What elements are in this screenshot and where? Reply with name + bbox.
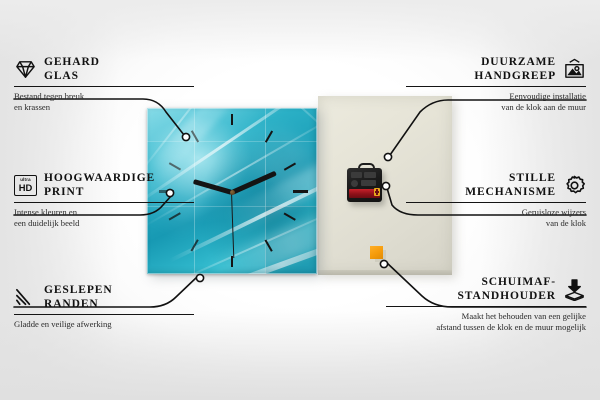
feature-geslepen-randen[interactable]: GESLEPEN RANDEN Gladde en veilige afwerk…: [14, 284, 194, 330]
diamond-icon: [14, 58, 37, 81]
feature-divider: [14, 86, 194, 87]
feature-title: HOOGWAARDIGE PRINT: [44, 172, 155, 199]
ultra-hd-icon-main-text: HD: [19, 183, 33, 193]
feature-divider: [406, 202, 586, 203]
feature-header: GEHARD GLAS: [14, 56, 194, 83]
feature-stille-mechanisme[interactable]: STILLE MECHANISME Geruisloze wijzers van…: [406, 172, 586, 229]
feature-divider: [14, 202, 194, 203]
feature-schuimafstandhouder[interactable]: SCHUIMAF- STANDHOUDER Maakt het behouden…: [386, 276, 586, 333]
connector-node-mechanisme: [382, 182, 389, 189]
connector-node-randen: [196, 274, 203, 281]
feature-header: GESLEPEN RANDEN: [14, 284, 194, 311]
feature-header: ultra HD HOOGWAARDIGE PRINT: [14, 172, 194, 199]
bevelled-edge-icon: [14, 286, 37, 309]
gear-icon: [563, 174, 586, 197]
feature-divider: [14, 314, 194, 315]
connector-node-handgreep: [384, 153, 391, 160]
feature-desc-line1: Intense kleuren en: [14, 207, 194, 218]
foam-spacer-icon: [563, 278, 586, 301]
feature-hoogwaardige-print[interactable]: ultra HD HOOGWAARDIGE PRINT Intense kleu…: [14, 172, 194, 229]
picture-hanger-icon: [563, 58, 586, 81]
feature-title: GESLEPEN RANDEN: [44, 284, 113, 311]
infographic-canvas: GEHARD GLAS Bestand tegen breuk en krass…: [0, 0, 600, 400]
feature-desc-line1: Eenvoudige installatie: [406, 91, 586, 102]
connector-node-gehard-glas: [182, 133, 189, 140]
feature-header: DUURZAME HANDGREEP: [406, 56, 586, 83]
feature-desc-line1: Maakt het behouden van een gelijke: [386, 311, 586, 322]
connector-node-schuim: [380, 260, 387, 267]
feature-title: STILLE MECHANISME: [465, 172, 556, 199]
feature-title: SCHUIMAF- STANDHOUDER: [457, 276, 556, 303]
feature-title: DUURZAME HANDGREEP: [474, 56, 556, 83]
feature-header: SCHUIMAF- STANDHOUDER: [386, 276, 586, 303]
feature-desc-line1: Geruisloze wijzers: [406, 207, 586, 218]
ultra-hd-icon: ultra HD: [14, 175, 37, 196]
feature-desc-line2: en krassen: [14, 102, 194, 113]
feature-divider: [386, 306, 586, 307]
feature-header: STILLE MECHANISME: [406, 172, 586, 199]
feature-divider: [406, 86, 586, 87]
feature-gehard-glas[interactable]: GEHARD GLAS Bestand tegen breuk en krass…: [14, 56, 194, 113]
feature-desc-line1: Bestand tegen breuk: [14, 91, 194, 102]
feature-desc-line2: van de klok aan de muur: [406, 102, 586, 113]
feature-desc-line2: een duidelijk beeld: [14, 218, 194, 229]
feature-duurzame-handgreep[interactable]: DUURZAME HANDGREEP Eenvoudige installati…: [406, 56, 586, 113]
feature-desc-line1: Gladde en veilige afwerking: [14, 319, 194, 330]
feature-desc-line2: afstand tussen de klok en de muur mogeli…: [386, 322, 586, 333]
feature-title: GEHARD GLAS: [44, 56, 100, 83]
feature-desc-line2: van de klok: [406, 218, 586, 229]
